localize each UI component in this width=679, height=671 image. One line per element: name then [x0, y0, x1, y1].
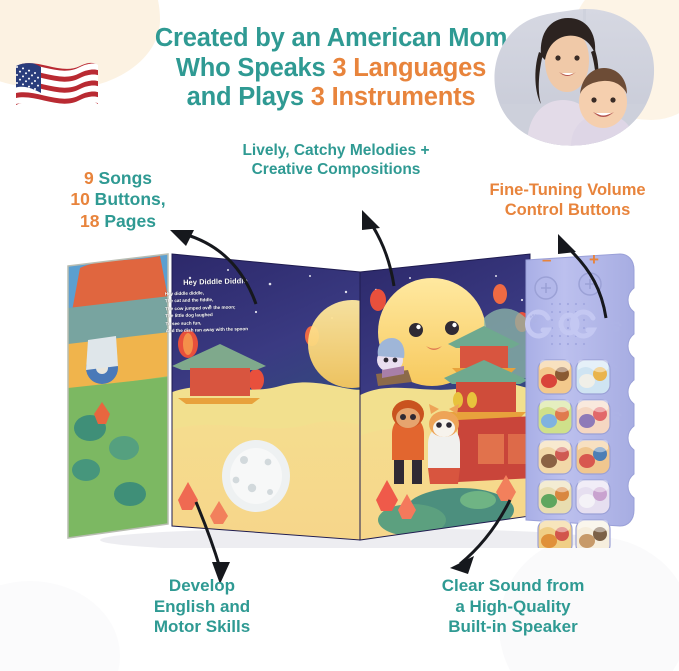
callout-songs-line-1: 9 Songs — [28, 168, 208, 189]
arrow-to-book-center — [348, 208, 428, 288]
train-rhyme-button[interactable] — [538, 360, 572, 394]
mom-and-child-photo — [487, 8, 657, 146]
callout-clear-sound: Clear Sound from a High-Quality Built-in… — [408, 576, 618, 638]
callout-develop-line-1: Develop — [112, 576, 292, 597]
callout-songs-line-2: 10 Buttons, — [28, 189, 208, 210]
children-rhyme-button[interactable] — [538, 400, 572, 434]
cat-character — [428, 404, 460, 484]
callout-songs-line-3: 18 Pages — [28, 211, 208, 232]
callout-sound-line-2: a High-Quality — [408, 597, 618, 618]
callout-develop-line-2: English and — [112, 597, 292, 618]
callout-develop-line-3: Motor Skills — [112, 617, 292, 638]
callout-develop-skills: Develop English and Motor Skills — [112, 576, 292, 638]
unicorn-rhyme-button[interactable] — [576, 480, 610, 514]
dog-face-button[interactable] — [576, 520, 610, 548]
callout-volume-control: Fine-Tuning Volume Control Buttons — [460, 180, 675, 220]
callout-sound-line-1: Clear Sound from — [408, 576, 618, 597]
callout-melodies: Lively, Catchy Melodies + Creative Compo… — [196, 142, 476, 180]
callout-volume-line-2: Control Buttons — [460, 200, 675, 220]
bedtime-rhyme-button[interactable] — [576, 440, 610, 474]
background-blob-bottom-left — [0, 581, 120, 671]
dinosaur-rhyme-button[interactable] — [538, 480, 572, 514]
usa-flag-icon — [10, 52, 102, 126]
arrow-to-volume-buttons — [540, 230, 630, 320]
callout-sound-line-3: Built-in Speaker — [408, 617, 618, 638]
callout-volume-line-1: Fine-Tuning Volume — [460, 180, 675, 200]
humpty-rhyme-button[interactable] — [576, 360, 610, 394]
callout-melodies-line-1: Lively, Catchy Melodies + — [196, 142, 476, 161]
doctor-rhyme-button[interactable] — [576, 400, 610, 434]
callout-melodies-line-2: Creative Compositions — [196, 161, 476, 180]
clock-mouse-button[interactable] — [538, 440, 572, 474]
lion-rhyme-button[interactable] — [538, 520, 572, 548]
product-feature-graphic: Created by an American Mom Who Speaks 3 … — [0, 0, 679, 671]
callout-songs-buttons-pages: 9 Songs 10 Buttons, 18 Pages — [28, 168, 208, 232]
